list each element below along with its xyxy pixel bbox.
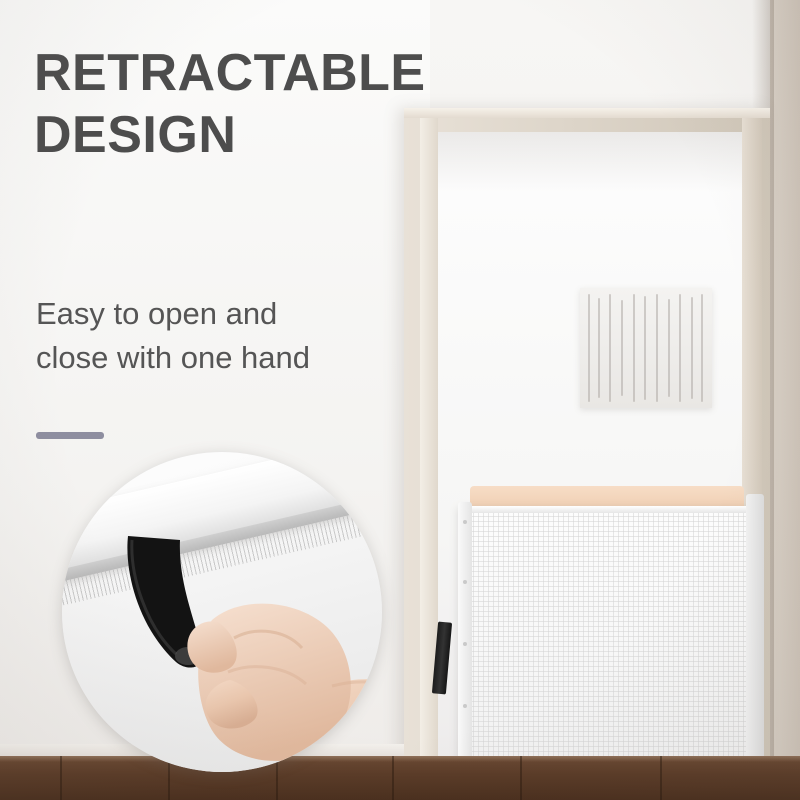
subheading-line-2: close with one hand <box>36 336 396 380</box>
inset-photo <box>62 452 382 772</box>
right-wall <box>770 0 800 800</box>
hand <box>182 564 382 772</box>
headline-line-2: DESIGN <box>34 104 434 166</box>
subheading: Easy to open and close with one hand <box>36 292 396 380</box>
gate-left-post <box>458 502 472 794</box>
gate-mesh-fabric <box>458 506 754 792</box>
subheading-line-1: Easy to open and <box>36 292 396 336</box>
gate-right-post <box>746 494 764 794</box>
door-frame-left-edge <box>420 118 438 800</box>
door-frame-top-edge <box>404 108 770 118</box>
gate-top-rail <box>458 506 754 513</box>
divider-rule <box>36 432 104 439</box>
page-title: RETRACTABLE DESIGN <box>34 42 434 166</box>
product-image: RETRACTABLE DESIGN Easy to open and clos… <box>0 0 800 800</box>
headline-line-1: RETRACTABLE <box>34 42 434 104</box>
wall-art <box>580 288 712 408</box>
doorway-top-shadow <box>438 132 742 192</box>
retractable-mesh-gate <box>458 506 754 792</box>
